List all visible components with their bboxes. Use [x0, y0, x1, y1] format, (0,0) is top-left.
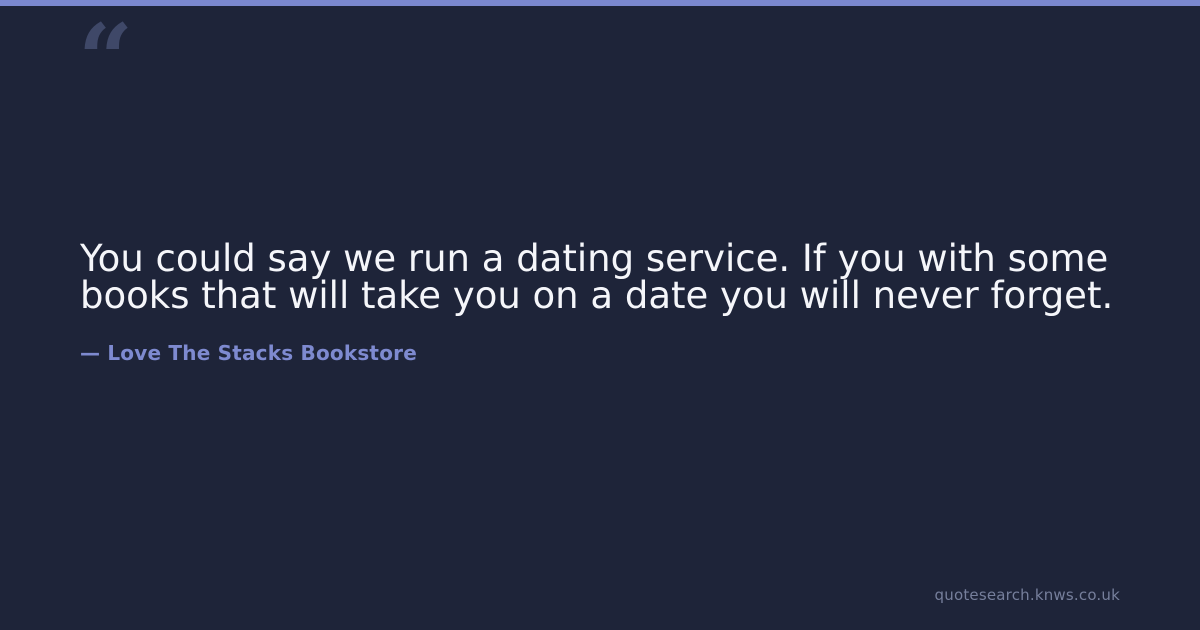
quotation-mark-icon: “: [78, 12, 131, 108]
quote-attribution: — Love The Stacks Bookstore: [80, 314, 1120, 365]
footer-site-url: quotesearch.knws.co.uk: [935, 586, 1120, 604]
quote-text: You could say we run a dating service. I…: [80, 240, 1120, 314]
quote-card: “ You could say we run a dating service.…: [0, 0, 1200, 630]
top-accent-bar: [0, 0, 1200, 6]
quote-content: You could say we run a dating service. I…: [80, 240, 1120, 365]
